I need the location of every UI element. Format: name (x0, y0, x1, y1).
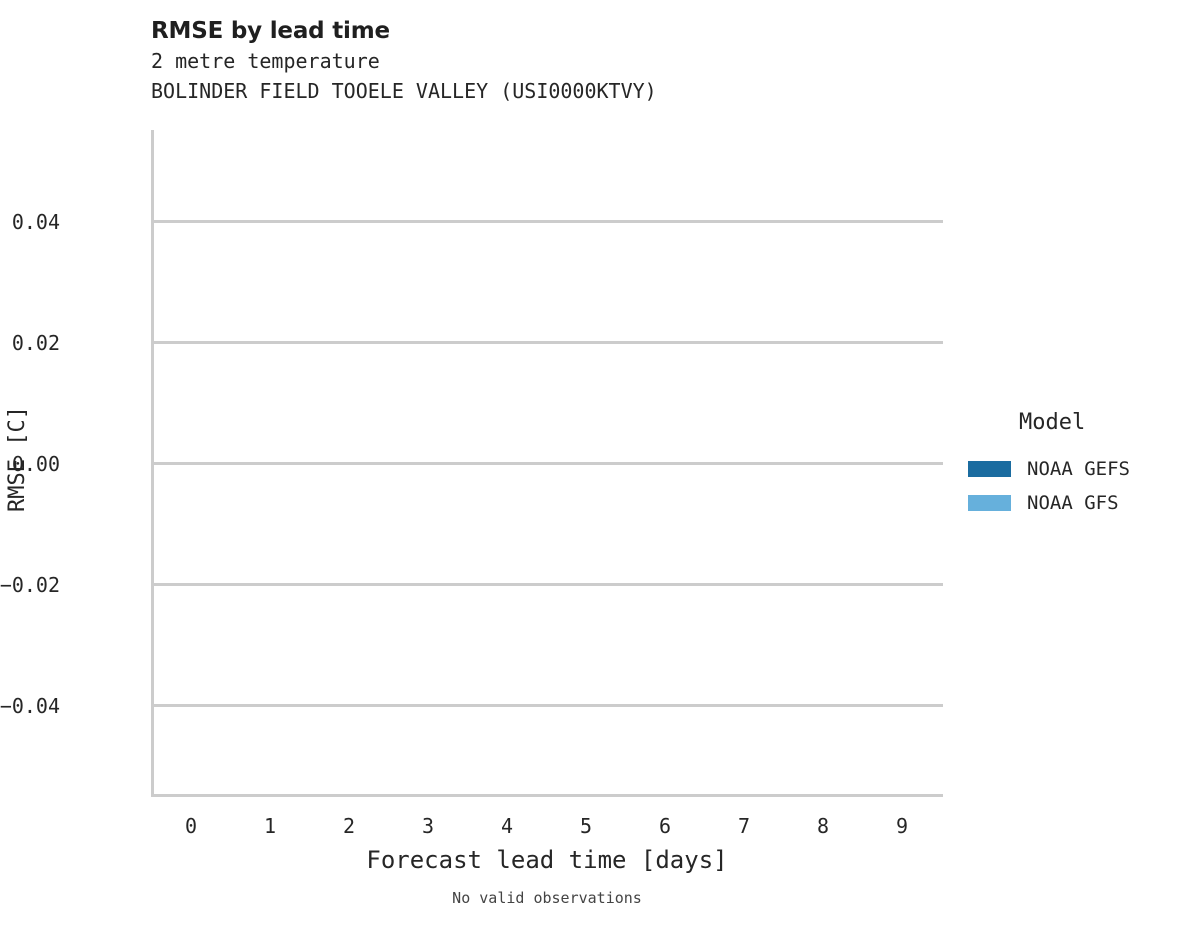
chart-subtitle-variable: 2 metre temperature (151, 46, 971, 76)
y-axis-title: RMSE [C] (6, 379, 30, 539)
legend-title: Model (1019, 410, 1178, 436)
x-tick-label-3: 3 (408, 815, 448, 837)
legend: Model NOAA GEFS NOAA GFS (968, 410, 1178, 520)
y-tick-label-4: −0.04 (0, 696, 60, 716)
y-tick-label-1: 0.02 (12, 333, 60, 353)
legend-item-noaa-gfs[interactable]: NOAA GFS (968, 486, 1178, 520)
x-tick-label-0: 0 (171, 815, 211, 837)
chart-header: RMSE by lead time 2 metre temperature BO… (151, 16, 971, 106)
x-tick-label-1: 1 (250, 815, 290, 837)
y-tick-label-3: −0.02 (0, 575, 60, 595)
x-tick-label-5: 5 (566, 815, 606, 837)
y-tick-label-0: 0.04 (12, 212, 60, 232)
x-tick-label-7: 7 (724, 815, 764, 837)
plot-area (151, 130, 943, 795)
x-tick-label-2: 2 (329, 815, 369, 837)
legend-swatch-noaa-gefs (968, 461, 1011, 477)
legend-label-noaa-gefs: NOAA GEFS (1027, 460, 1130, 479)
x-tick-label-6: 6 (645, 815, 685, 837)
x-tick-label-4: 4 (487, 815, 527, 837)
legend-item-noaa-gefs[interactable]: NOAA GEFS (968, 452, 1178, 486)
x-tick-label-8: 8 (803, 815, 843, 837)
no-data-note: No valid observations (151, 888, 943, 908)
legend-swatch-noaa-gfs (968, 495, 1011, 511)
chart-subtitle-station: BOLINDER FIELD TOOELE VALLEY (USI0000KTV… (151, 76, 971, 106)
x-axis-title: Forecast lead time [days] (151, 845, 943, 875)
page-title: RMSE by lead time (151, 16, 971, 46)
legend-label-noaa-gfs: NOAA GFS (1027, 494, 1119, 513)
x-tick-label-9: 9 (882, 815, 922, 837)
